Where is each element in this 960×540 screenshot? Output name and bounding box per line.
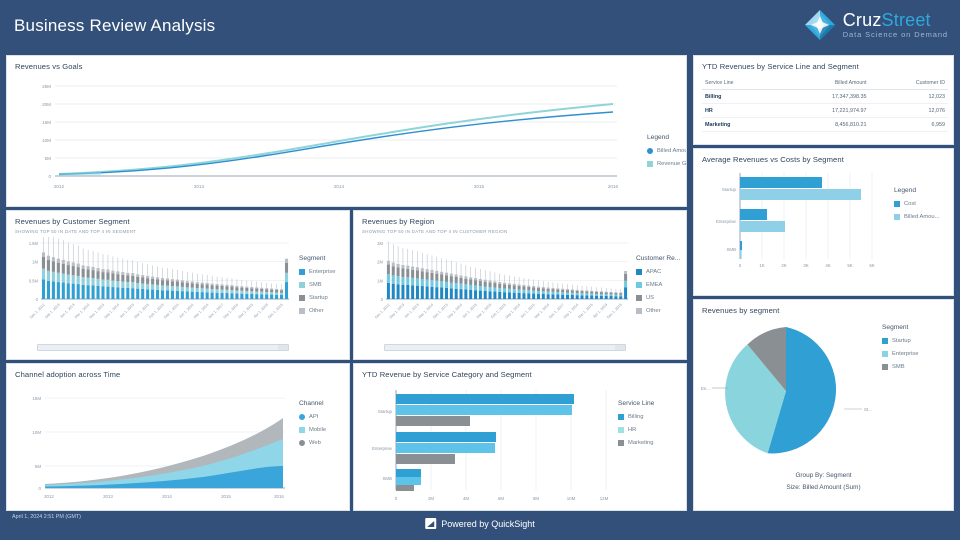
panel-subtitle-customer-segment: SHOWING TOP 50 IN DATE AND TOP 4 IN SEGM… <box>7 226 349 234</box>
legend-swatch-icon <box>894 201 900 207</box>
legend-swatch-icon <box>618 414 624 420</box>
svg-text:2015: 2015 <box>474 184 485 189</box>
svg-text:20M: 20M <box>42 102 51 107</box>
cell-billed-amount: 8,456,810.21 <box>779 118 869 132</box>
table-row[interactable]: Billing 17,347,398.35 12,023 <box>702 90 948 104</box>
legend-item-label: SMB <box>309 282 322 288</box>
legend-item-enterprise[interactable]: Enterprise <box>299 269 335 275</box>
svg-text:Mar 1, 2015: Mar 1, 2015 <box>238 303 254 319</box>
cell-billed-amount: 17,347,398.35 <box>779 90 869 104</box>
cell-service-line: Marketing <box>702 118 779 132</box>
ytd-revenues-table: Service Line Billed Amount Customer ID B… <box>702 77 948 132</box>
legend-swatch-icon <box>647 161 653 167</box>
legend-title: Segment <box>882 324 918 331</box>
legend-item-billed-amount[interactable]: Billed Amou... <box>647 148 687 154</box>
legend-avg-revenues: Legend Cost Billed Amou... <box>894 187 939 227</box>
svg-text:3K: 3K <box>803 263 808 268</box>
legend-item-web[interactable]: Web <box>299 440 326 446</box>
legend-title: Legend <box>647 134 687 141</box>
legend-title: Service Line <box>618 400 654 407</box>
legend-pie-segment: Segment Startup Enterprise SMB <box>882 324 918 377</box>
svg-text:15M: 15M <box>42 120 51 125</box>
legend-customer-segment: Segment Enterprise SMB Startup Other <box>299 255 335 321</box>
cell-customer-id: 12,076 <box>870 104 948 118</box>
svg-text:6M: 6M <box>498 496 504 501</box>
legend-item-smb[interactable]: SMB <box>882 364 918 370</box>
legend-item-label: API <box>309 414 318 420</box>
svg-text:2013: 2013 <box>103 494 113 499</box>
svg-text:6K: 6K <box>869 263 874 268</box>
svg-text:Dec 1, 2015: Dec 1, 2015 <box>267 303 284 320</box>
revenues-vs-goals-plot: 25M 20M 15M 10M 5M 0 2012 2013 2014 2015… <box>21 76 621 194</box>
svg-text:10M: 10M <box>32 430 41 435</box>
legend-swatch-icon <box>299 308 305 314</box>
svg-text:Sep 1, 2014: Sep 1, 2014 <box>447 303 464 320</box>
svg-text:15M: 15M <box>32 396 41 401</box>
svg-text:Sep 1, 2014: Sep 1, 2014 <box>104 303 121 320</box>
svg-text:1M: 1M <box>377 278 383 283</box>
panel-title-region: Revenues by Region <box>354 211 686 226</box>
brand-tagline: Data Science on Demand <box>843 31 948 39</box>
panel-title-pie: Revenues by segment <box>694 300 953 315</box>
legend-item-label: Cost <box>904 201 916 207</box>
legend-item-startup[interactable]: Startup <box>299 295 335 301</box>
legend-swatch-icon <box>618 440 624 446</box>
legend-item-label: Billed Amou... <box>657 148 687 154</box>
svg-text:Startup: Startup <box>722 187 737 192</box>
legend-swatch-icon <box>882 364 888 370</box>
legend-item-billed-amount[interactable]: Billed Amou... <box>894 214 939 220</box>
legend-item-startup[interactable]: Startup <box>882 338 918 344</box>
svg-text:10M: 10M <box>567 496 576 501</box>
legend-item-label: Web <box>309 440 321 446</box>
legend-service-line: Service Line Billing HR Marketing <box>618 400 654 453</box>
svg-text:0: 0 <box>381 297 384 302</box>
scrollbar-thumb[interactable] <box>38 345 278 350</box>
cell-service-line: Billing <box>702 90 779 104</box>
panel-revenues-vs-goals[interactable]: Revenues vs Goals 25M 20M 15M 10M 5M 0 2… <box>6 55 687 207</box>
legend-item-label: Enterprise <box>892 351 918 357</box>
legend-swatch-icon <box>299 295 305 301</box>
svg-text:Sep 1, 2013: Sep 1, 2013 <box>44 303 61 320</box>
panel-subtitle-region: SHOWING TOP 50 IN DATE AND TOP 4 IN CUST… <box>354 226 686 234</box>
page-title: Business Review Analysis <box>14 16 215 36</box>
scrollbar-thumb[interactable] <box>385 345 615 350</box>
panel-title-avg-revenues: Average Revenues vs Costs by Segment <box>694 149 953 164</box>
quicksight-chart-icon <box>425 518 436 529</box>
svg-text:2014: 2014 <box>334 184 345 189</box>
legend-item-smb[interactable]: SMB <box>299 282 335 288</box>
legend-item-label: US <box>646 295 654 301</box>
pie-caption-group-by: Group By: Segment <box>694 472 953 479</box>
legend-item-billing[interactable]: Billing <box>618 414 654 420</box>
svg-text:Dec 1, 2015: Dec 1, 2015 <box>606 303 623 320</box>
svg-text:2015: 2015 <box>221 494 231 499</box>
legend-item-marketing[interactable]: Marketing <box>618 440 654 446</box>
svg-text:0: 0 <box>48 174 51 179</box>
legend-item-label: Revenue Goal <box>657 161 687 167</box>
svg-text:2M: 2M <box>377 260 383 265</box>
panel-title-ytd-table: YTD Revenues by Service Line and Segment <box>694 56 953 71</box>
legend-item-label: Enterprise <box>309 269 335 275</box>
legend-item-us[interactable]: US <box>636 295 680 301</box>
legend-item-label: Other <box>309 308 324 314</box>
table-row[interactable]: Marketing 8,456,810.21 6,959 <box>702 118 948 132</box>
legend-item-emea[interactable]: EMEA <box>636 282 680 288</box>
svg-text:2016: 2016 <box>274 494 284 499</box>
svg-text:Enterprise: Enterprise <box>716 219 737 224</box>
legend-swatch-icon <box>636 269 642 275</box>
legend-swatch-icon <box>894 214 900 220</box>
svg-text:5K: 5K <box>847 263 852 268</box>
column-header-service-line[interactable]: Service Line <box>702 77 779 90</box>
legend-item-label: Billed Amou... <box>904 214 939 220</box>
panel-revenues-by-segment-pie[interactable]: Revenues by segment En... St... Segment … <box>693 299 954 511</box>
column-header-customer-id[interactable]: Customer ID <box>870 77 948 90</box>
panel-ytd-revenue-by-service-category[interactable]: YTD Revenue by Service Category and Segm… <box>353 363 687 511</box>
panel-revenues-by-customer-segment[interactable]: Revenues by Customer Segment SHOWING TOP… <box>6 210 350 360</box>
svg-text:2M: 2M <box>428 496 434 501</box>
svg-text:12M: 12M <box>600 496 609 501</box>
legend-item-label: Startup <box>309 295 328 301</box>
pie-caption-size: Size: Billed Amount (Sum) <box>694 484 953 491</box>
svg-text:25M: 25M <box>42 84 51 89</box>
svg-text:4M: 4M <box>463 496 469 501</box>
svg-text:2016: 2016 <box>608 184 619 189</box>
legend-item-cost[interactable]: Cost <box>894 201 939 207</box>
legend-item-api[interactable]: API <box>299 414 326 420</box>
legend-revenues-vs-goals: Legend Billed Amou... Revenue Goal <box>647 134 687 174</box>
legend-item-mobile[interactable]: Mobile <box>299 427 326 433</box>
legend-title: Segment <box>299 255 335 262</box>
svg-text:Sep 1, 2016: Sep 1, 2016 <box>163 303 180 320</box>
panel-title-channel: Channel adoption across Time <box>7 364 349 379</box>
legend-region: Customer Re... APAC EMEA US Other <box>636 255 680 321</box>
svg-text:0.5M: 0.5M <box>29 278 39 283</box>
svg-text:2K: 2K <box>781 263 786 268</box>
panel-title-ytd-bar: YTD Revenue by Service Category and Segm… <box>354 364 686 379</box>
legend-channel: Channel API Mobile Web <box>299 400 326 453</box>
svg-text:Sep 1, 2016: Sep 1, 2016 <box>505 303 522 320</box>
legend-swatch-icon <box>618 427 624 433</box>
legend-item-enterprise[interactable]: Enterprise <box>882 351 918 357</box>
cell-service-line: HR <box>702 104 779 118</box>
panel-channel-adoption[interactable]: Channel adoption across Time 15M 10M 5M … <box>6 363 350 511</box>
svg-text:SMB: SMB <box>726 247 736 252</box>
svg-text:5M: 5M <box>45 156 52 161</box>
legend-title: Legend <box>894 187 939 194</box>
column-header-billed-amount[interactable]: Billed Amount <box>779 77 869 90</box>
svg-text:Startup: Startup <box>378 409 393 414</box>
legend-item-revenue-goal[interactable]: Revenue Goal <box>647 161 687 167</box>
svg-text:Enterprise: Enterprise <box>372 446 393 451</box>
svg-text:1K: 1K <box>759 263 764 268</box>
legend-item-label: Other <box>646 308 661 314</box>
legend-swatch-icon <box>882 351 888 357</box>
cell-customer-id: 12,023 <box>870 90 948 104</box>
horizontal-scrollbar[interactable] <box>37 344 289 351</box>
footer-timestamp: April 1, 2024 2:51 PM (GMT) <box>12 514 81 520</box>
legend-item-label: Mobile <box>309 427 326 433</box>
svg-text:5M: 5M <box>35 464 41 469</box>
svg-text:4K: 4K <box>825 263 830 268</box>
svg-text:1M: 1M <box>32 260 38 265</box>
svg-text:En...: En... <box>701 386 710 391</box>
channel-adoption-plot: 15M 10M 5M 0 2012 2013 2014 2015 2016 <box>13 384 293 504</box>
legend-item-label: Billing <box>628 414 643 420</box>
svg-text:SMB: SMB <box>382 476 392 481</box>
svg-text:10M: 10M <box>42 138 51 143</box>
brand-name-part1: Cruz <box>843 10 882 30</box>
legend-item-other[interactable]: Other <box>636 308 680 314</box>
legend-swatch-icon <box>299 414 305 420</box>
ytd-revenue-bar-plot: Startup Enterprise SMB 0 2M 4M 6M 8M 10M… <box>360 384 610 506</box>
svg-text:Sep 1, 2016: Sep 1, 2016 <box>223 303 240 320</box>
legend-item-other[interactable]: Other <box>299 308 335 314</box>
legend-swatch-icon <box>636 295 642 301</box>
footer-brand-label: Powered by QuickSight <box>441 519 535 529</box>
svg-text:St...: St... <box>864 407 872 412</box>
svg-text:2014: 2014 <box>162 494 172 499</box>
panel-revenues-by-region[interactable]: Revenues by Region SHOWING TOP 50 IN DAT… <box>353 210 687 360</box>
panel-ytd-revenues-table[interactable]: YTD Revenues by Service Line and Segment… <box>693 55 954 145</box>
svg-text:0: 0 <box>36 297 39 302</box>
cell-billed-amount: 17,221,974.97 <box>779 104 869 118</box>
svg-text:0: 0 <box>395 496 398 501</box>
legend-title: Customer Re... <box>636 255 680 262</box>
legend-item-label: EMEA <box>646 282 662 288</box>
svg-text:2012: 2012 <box>54 184 65 189</box>
legend-swatch-icon <box>299 269 305 275</box>
legend-item-label: Startup <box>892 338 911 344</box>
legend-item-label: HR <box>628 427 636 433</box>
legend-swatch-icon <box>636 282 642 288</box>
legend-swatch-icon <box>647 148 653 154</box>
svg-text:Mar 1, 2015: Mar 1, 2015 <box>577 303 593 319</box>
revenues-by-segment-pie: En... St... <box>696 316 876 466</box>
legend-item-label: Marketing <box>628 440 653 446</box>
svg-text:2013: 2013 <box>194 184 205 189</box>
legend-swatch-icon <box>636 308 642 314</box>
table-header-row: Service Line Billed Amount Customer ID <box>702 77 948 90</box>
legend-item-label: SMB <box>892 364 905 370</box>
svg-text:2012: 2012 <box>44 494 54 499</box>
horizontal-scrollbar[interactable] <box>384 344 626 351</box>
dashboard-header: Business Review Analysis CruzStreet Data… <box>0 0 960 48</box>
footer-brand[interactable]: Powered by QuickSight <box>425 518 535 529</box>
svg-text:Sep 1, 2013: Sep 1, 2013 <box>389 303 406 320</box>
legend-item-apac[interactable]: APAC <box>636 269 680 275</box>
legend-swatch-icon <box>299 440 305 446</box>
legend-item-hr[interactable]: HR <box>618 427 654 433</box>
panel-title-customer-segment: Revenues by Customer Segment <box>7 211 349 226</box>
panel-title-revenues-vs-goals: Revenues vs Goals <box>7 56 686 71</box>
svg-text:8M: 8M <box>533 496 539 501</box>
legend-item-label: APAC <box>646 269 661 275</box>
brand-name-part2: Street <box>882 10 931 30</box>
cell-customer-id: 6,959 <box>870 118 948 132</box>
legend-title: Channel <box>299 400 326 407</box>
region-plot: 01M2M3MDec 1, 2012Sep 1, 2013Jun 1, 2013… <box>360 237 632 337</box>
legend-swatch-icon <box>299 427 305 433</box>
customer-segment-plot: 00.5M1M1.5MDec 1, 2012Sep 1, 2013Jun 1, … <box>13 237 293 337</box>
avg-revenues-vs-costs-plot: Startup Enterprise SMB 0 1K 2K 3K 4K 5K … <box>700 167 890 282</box>
brand-logo: CruzStreet Data Science on Demand <box>803 6 948 44</box>
table-row[interactable]: HR 17,221,974.97 12,076 <box>702 104 948 118</box>
diamond-compass-icon <box>803 8 837 42</box>
svg-text:0: 0 <box>39 486 42 491</box>
legend-swatch-icon <box>299 282 305 288</box>
dashboard-footer: April 1, 2024 2:51 PM (GMT) Powered by Q… <box>0 512 960 540</box>
panel-avg-revenues-vs-costs[interactable]: Average Revenues vs Costs by Segment Sta… <box>693 148 954 296</box>
dashboard-root: Business Review Analysis CruzStreet Data… <box>0 0 960 540</box>
brand-wordmark: CruzStreet Data Science on Demand <box>843 11 948 39</box>
svg-text:1.5M: 1.5M <box>29 241 39 246</box>
svg-text:3M: 3M <box>377 241 383 246</box>
legend-swatch-icon <box>882 338 888 344</box>
svg-text:0: 0 <box>739 263 742 268</box>
